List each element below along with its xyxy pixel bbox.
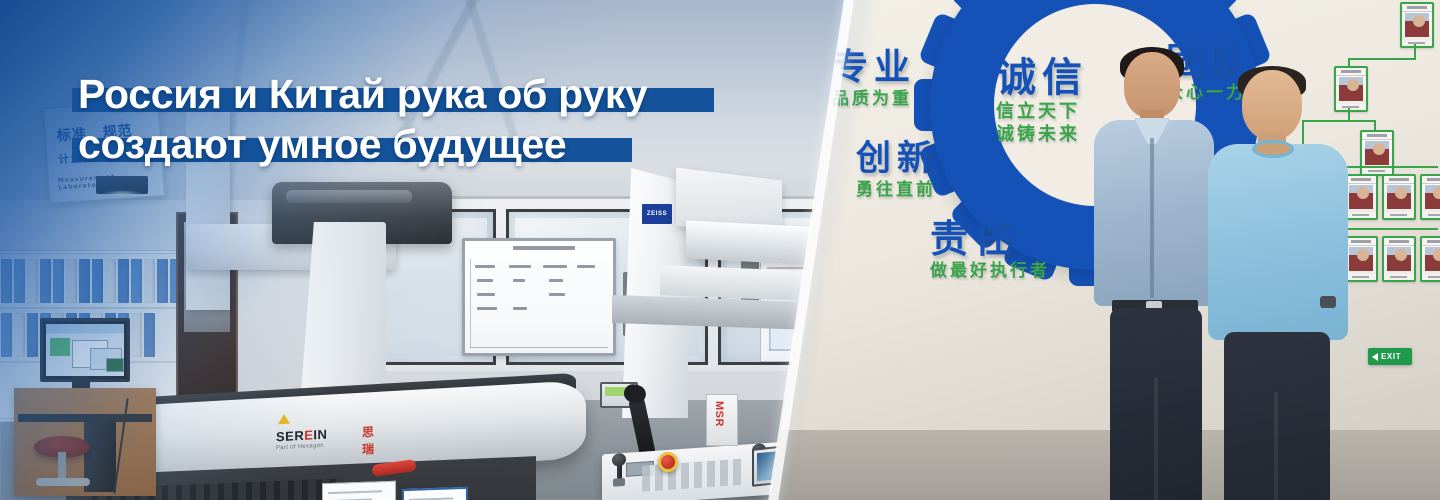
headline-line-2: создают умное будущее bbox=[78, 121, 566, 167]
slogan-zhuanye: 专业 品质为重 bbox=[832, 50, 916, 108]
emergency-stop-button[interactable] bbox=[658, 452, 678, 472]
headline-line-1: Россия и Китай рука об руку bbox=[78, 71, 648, 117]
trousers bbox=[1110, 308, 1202, 500]
monitor-screen bbox=[46, 324, 124, 376]
jeans bbox=[1224, 332, 1330, 500]
tshirt bbox=[1208, 144, 1348, 340]
machine-certificate bbox=[402, 487, 468, 500]
zeiss-logo-text: ZEISS bbox=[647, 211, 667, 217]
wristwatch bbox=[1320, 296, 1336, 308]
msr-label: MSR bbox=[713, 401, 725, 427]
org-card bbox=[1420, 174, 1440, 220]
headline-line-2-wrap: создают умное будущее bbox=[78, 122, 566, 168]
org-card bbox=[1344, 236, 1378, 282]
zeiss-logo-badge: ZEISS bbox=[642, 204, 672, 224]
slogan-chengxin: 诚信 信立天下 诚铸未来 bbox=[996, 58, 1088, 144]
shirt-placket bbox=[1150, 138, 1154, 298]
monitor-stand bbox=[72, 376, 90, 388]
person-in-light-blue-tshirt bbox=[1208, 70, 1348, 500]
tshirt-collar bbox=[1252, 140, 1294, 158]
serein-brand-text: SEREIN bbox=[276, 427, 327, 445]
headline-block: Россия и Китай рука об руку создают умно… bbox=[78, 72, 778, 172]
org-card bbox=[1382, 174, 1416, 220]
serein-brand-cn: 思瑞 bbox=[362, 423, 374, 458]
exit-sign-text: EXIT bbox=[1381, 352, 1401, 361]
joystick-left[interactable] bbox=[612, 459, 626, 490]
org-card bbox=[1382, 236, 1416, 282]
stool-base bbox=[36, 478, 90, 486]
exit-arrow-icon bbox=[1372, 353, 1378, 361]
head bbox=[1242, 70, 1302, 140]
org-card bbox=[1344, 174, 1378, 220]
workstation-monitor bbox=[40, 318, 130, 382]
org-card bbox=[1400, 2, 1434, 48]
org-card bbox=[1360, 130, 1394, 176]
dress-shirt bbox=[1094, 120, 1214, 306]
org-card bbox=[1420, 236, 1440, 282]
headline-line-1-wrap: Россия и Китай рука об руку bbox=[78, 72, 648, 118]
hero-banner: 标准 规范 计量检定 Measurement Laboratory ZEISS bbox=[0, 0, 1440, 500]
warning-triangle-icon bbox=[278, 414, 290, 425]
ceiling-light bbox=[96, 176, 148, 194]
msr-device: MSR bbox=[706, 394, 738, 446]
console-keypad[interactable] bbox=[642, 459, 742, 492]
slogan-zeren: 责任 做最好执行者 bbox=[930, 220, 1050, 280]
machine-document bbox=[322, 481, 396, 500]
slogan-chuangxin: 创新 勇往直前 bbox=[856, 142, 938, 199]
exit-sign: EXIT bbox=[1368, 348, 1412, 365]
serein-brand-mark: SEREIN Part of Hexagon 思瑞 bbox=[276, 427, 327, 452]
head bbox=[1124, 52, 1180, 118]
person-in-blue-dress-shirt bbox=[1090, 52, 1220, 500]
